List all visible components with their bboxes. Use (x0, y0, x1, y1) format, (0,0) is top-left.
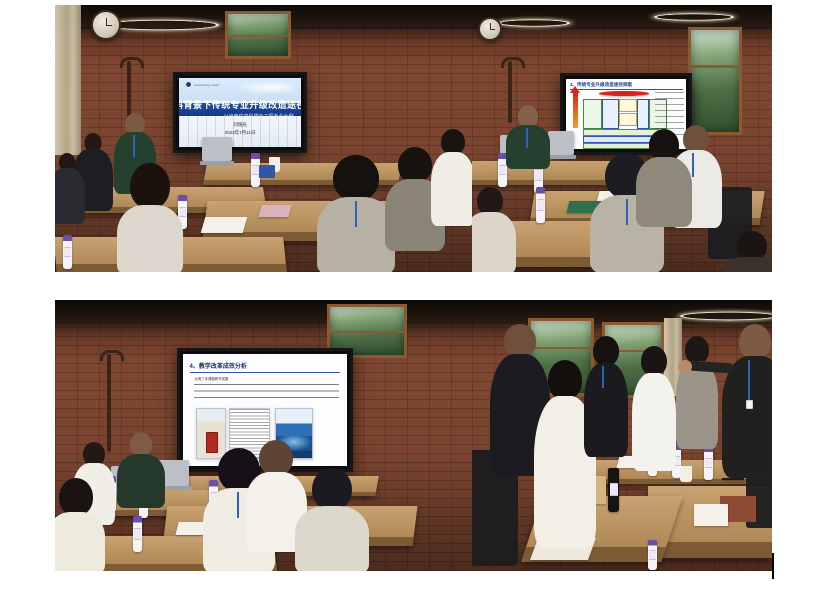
laptop (548, 131, 574, 155)
slide-date: 2023年7月11日 (179, 130, 301, 136)
diagram-column (583, 99, 602, 129)
window (688, 27, 742, 135)
name-card (259, 165, 275, 178)
pen (722, 478, 744, 480)
window (225, 11, 291, 59)
water-bottle (133, 516, 142, 552)
diagram-column (637, 99, 649, 129)
diagram-column (619, 99, 637, 112)
diagram-column (602, 99, 618, 129)
person-attendee (472, 187, 516, 272)
person-presenter (117, 432, 165, 506)
person-attendee (55, 478, 105, 571)
document-page: university-crest 新工科背景下传统专业升级改造途径研究 —以光电… (0, 0, 831, 591)
water-bottle (63, 235, 72, 269)
laptop (202, 137, 232, 161)
text-cursor (772, 553, 774, 579)
slide-title-band: 新工科背景下传统专业升级改造途径研究 —以光电信息科学与工程专业为例 (179, 103, 301, 116)
notebook-pages (694, 504, 728, 526)
photo-bottom[interactable]: 4、教学改革成效分析 近两三年课程教学成果 (55, 300, 772, 571)
photo-bottom-left: 4、教学改革成效分析 近两三年课程教学成果 (55, 300, 472, 571)
photo-top-right: 3、传统专业升级改造途径探索 (472, 5, 772, 272)
wall-clock-icon (91, 10, 121, 40)
person-standing (584, 336, 628, 454)
photo-top[interactable]: university-crest 新工科背景下传统专业升级改造途径研究 —以光电… (55, 5, 772, 272)
documents (201, 217, 248, 233)
water-bottle (648, 540, 657, 570)
slide-bullet-text: 近两三年课程教学成果 (194, 376, 228, 381)
person-attendee (55, 153, 85, 223)
water-bottle (704, 446, 713, 480)
ring-ceiling-light-icon (498, 19, 570, 26)
person-foreground (295, 468, 369, 571)
logo-text: university-crest (194, 83, 219, 87)
person-foreground (636, 129, 692, 225)
name-badge (746, 400, 753, 409)
coat-rack (107, 354, 111, 452)
person-attendee (431, 129, 472, 225)
person-standing (632, 346, 676, 468)
slide-banner (599, 91, 649, 96)
slide-body-text (194, 384, 338, 399)
person-gesturing (722, 324, 772, 476)
slide-header: 4、教学改革成效分析 (190, 360, 341, 373)
thermos-bottle (608, 468, 619, 512)
slide-subtitle-text: —以光电信息科学与工程专业为例 (219, 113, 294, 120)
projection-screen: university-crest 新工科背景下传统专业升级改造途径研究 —以光电… (173, 72, 307, 153)
photo-bottom-right (472, 300, 772, 571)
ring-ceiling-light-icon (680, 312, 772, 321)
slide-title-page: university-crest 新工科背景下传统专业升级改造途径研究 —以光电… (179, 78, 301, 147)
person-foreground (117, 163, 183, 272)
person-presenter (506, 105, 550, 167)
slide-header-text: 4、教学改革成效分析 (190, 361, 247, 370)
slide-title-text: 新工科背景下传统专业升级改造途径研究 (179, 98, 301, 111)
person-standing (676, 336, 718, 446)
university-crest-icon: university-crest (185, 81, 219, 88)
water-bottle (536, 187, 545, 223)
person-attendee (724, 231, 772, 272)
person-foreground (317, 155, 395, 272)
slide-header: 3、传统专业升级改造途径探索 (570, 81, 683, 90)
paper-cup (680, 466, 692, 482)
slide-presenter: 刘瑞光 (179, 122, 301, 128)
documents (258, 205, 291, 217)
ring-ceiling-light-icon (654, 13, 734, 20)
diagram-column (619, 113, 637, 126)
photo-top-left: university-crest 新工科背景下传统专业升级改造途径研究 —以光电… (55, 5, 472, 272)
vertical-arrow-icon (573, 92, 578, 128)
